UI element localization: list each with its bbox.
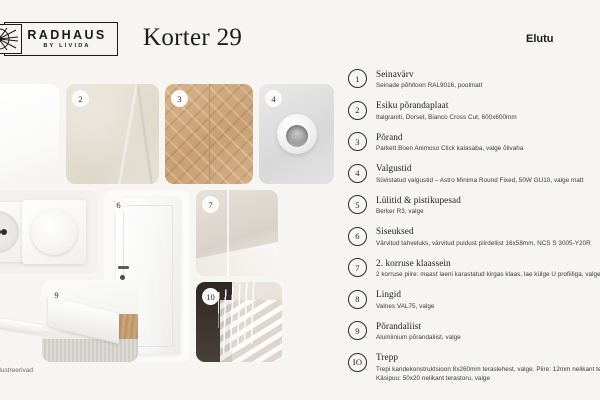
spec-title: Põrandaliist	[376, 321, 461, 332]
staircase-photo[interactable]: 10	[196, 282, 282, 362]
spec-number: 3	[348, 132, 367, 151]
stair-railing	[218, 282, 258, 356]
spec-item-6[interactable]: 6 Siseuksed Värvitud tahveluks, värvitud…	[348, 226, 600, 248]
spec-item-7[interactable]: 7 2. korruse klaassein 2 korruse piire: …	[348, 257, 600, 279]
skirting-board-photo[interactable]: 9	[42, 280, 138, 362]
spec-description: Alumiinium põrandaliist, valge	[376, 333, 461, 342]
tile-badge: 2	[72, 90, 89, 107]
spec-number: 2	[348, 101, 367, 120]
spec-title: Lingid	[376, 289, 434, 300]
spec-title: Lülitid & pistikupesad	[376, 195, 461, 206]
spec-number: IO	[348, 353, 367, 372]
spec-number: 8	[348, 290, 367, 309]
room-label: Elutu	[526, 33, 554, 45]
spec-title: Põrand	[376, 132, 523, 143]
spec-description: Valnes VAL75, valge	[376, 302, 434, 311]
spec-description: Värvitud tahveluks, värvitud puidust pii…	[376, 239, 591, 248]
spec-title: Esiku põrandaplaat	[376, 100, 517, 111]
door-lock	[120, 275, 125, 280]
disclaimer-text: d on illustreerivad	[0, 367, 33, 374]
downlight-bulb	[286, 125, 308, 147]
switch-button	[31, 209, 77, 255]
socket-hole	[1, 229, 7, 235]
tile-badge: 7	[202, 196, 219, 213]
material-image-grid: 1 2 3 4 5 6	[0, 84, 334, 362]
socket-and-switch-photo[interactable]: 5	[0, 190, 98, 274]
brand-tagline: BY LIVIDA	[27, 43, 106, 49]
spec-description: Parkett Boen Animoso Click kalasaba, val…	[376, 144, 523, 153]
spec-number: 5	[348, 195, 367, 214]
tile-badge: 10	[202, 288, 219, 305]
light-switch	[22, 200, 86, 264]
spec-item-1[interactable]: 1 Seinavärv Seinade põhitoon RAL9016, po…	[348, 68, 600, 90]
spec-description: Berker R3, valge	[376, 207, 461, 216]
concrete-floor	[42, 339, 138, 362]
spec-item-2[interactable]: 2 Esiku põrandaplaat Italgraniti, Dorset…	[348, 100, 600, 122]
herringbone-parquet-sample[interactable]: 3	[165, 84, 253, 184]
spec-title: Seinavärv	[376, 69, 482, 80]
page-title: Korter 29	[143, 24, 242, 52]
spec-item-3[interactable]: 3 Põrand Parkett Boen Animoso Click kala…	[348, 131, 600, 153]
moodboard-page: RADHAUS BY LIVIDA Korter 29 Elutu 1 2 3 …	[0, 0, 600, 400]
glass-wall-photo[interactable]: 7	[196, 190, 278, 276]
spec-number: 6	[348, 227, 367, 246]
spec-description: Trepi kandekonstruktsioon 8x260mm terasl…	[376, 365, 600, 383]
spec-description: Seinade põhitoon RAL9016, poolmatt	[376, 81, 482, 90]
spec-description: 2 korruse piire: maast laeni karastatud …	[376, 270, 600, 279]
stone-tile-sample[interactable]: 2	[66, 84, 159, 184]
spec-item-8[interactable]: 8 Lingid Valnes VAL75, valge	[348, 289, 600, 311]
spec-number: 7	[348, 258, 367, 277]
spec-title: Valgustid	[376, 163, 584, 174]
page-header: RADHAUS BY LIVIDA Korter 29 Elutu	[0, 22, 600, 74]
radial-sunburst-icon	[0, 24, 22, 54]
specification-list: 1 Seinavärv Seinade põhitoon RAL9016, po…	[348, 68, 600, 393]
recessed-downlight-photo[interactable]: 4	[259, 84, 334, 184]
spec-number: 1	[348, 69, 367, 88]
spec-item-4[interactable]: 4 Valgustid Süvistatud valgustid – Astro…	[348, 163, 600, 185]
spec-item-5[interactable]: 5 Lülitid & pistikupesad Berker R3, valg…	[348, 194, 600, 216]
spec-description: Italgraniti, Dorset, Bianco Cross Cut, 6…	[376, 113, 517, 122]
brand-logo: RADHAUS BY LIVIDA	[4, 22, 118, 56]
tile-badge: 6	[110, 196, 127, 213]
door-handle	[118, 266, 129, 269]
spec-number: 9	[348, 321, 367, 340]
spec-title: 2. korruse klaassein	[376, 258, 600, 269]
spec-item-10[interactable]: IO Trepp Trepi kandekonstruktsioon 8x260…	[348, 352, 600, 383]
tile-badge: 4	[265, 90, 282, 107]
spec-number: 4	[348, 164, 367, 183]
spec-title: Siseuksed	[376, 226, 591, 237]
tile-badge: 9	[48, 286, 65, 303]
spec-description: Süvistatud valgustid – Astro Minima Roun…	[376, 176, 584, 185]
spec-item-9[interactable]: 9 Põrandaliist Alumiinium põrandaliist, …	[348, 320, 600, 342]
spec-title: Trepp	[376, 352, 600, 363]
tile-badge: 3	[171, 90, 188, 107]
socket-ring	[0, 211, 19, 253]
brand-name: RADHAUS	[27, 29, 106, 42]
wall-paint-swatch[interactable]: 1	[0, 84, 59, 184]
